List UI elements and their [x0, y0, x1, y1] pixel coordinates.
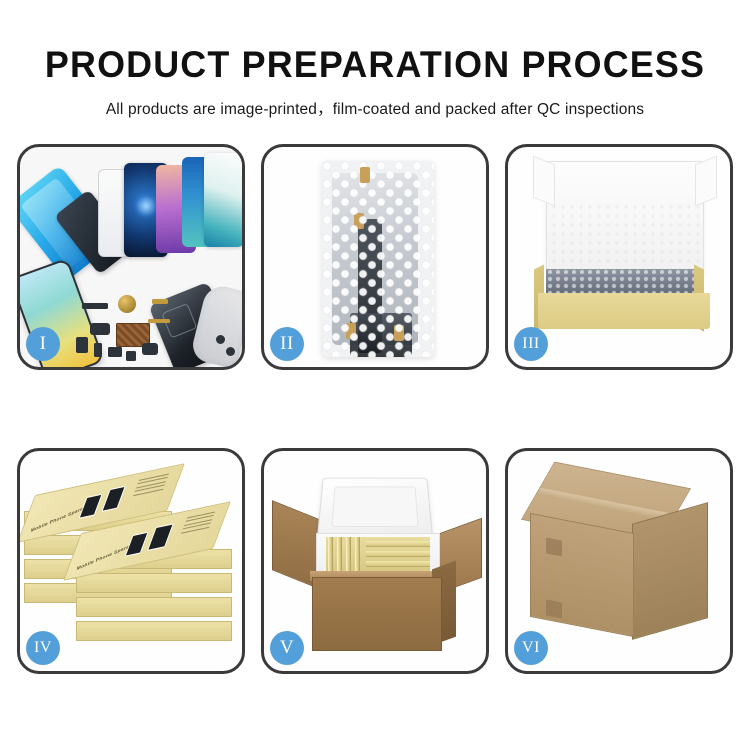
stacked-box-edge-8: [76, 621, 232, 641]
box-spec-lines-back: [132, 474, 169, 499]
box-artwork-1: [79, 494, 103, 519]
box-artwork-3: [125, 532, 149, 557]
step-badge-1: I: [26, 327, 60, 361]
tape-patch-top: [546, 537, 562, 556]
camera-module-chip: [90, 323, 110, 335]
gold-connector-chip: [152, 299, 168, 304]
step-badge-2: II: [270, 327, 304, 361]
phone-screen-white: [204, 153, 242, 247]
carton-front-panel: [312, 577, 442, 651]
tape-tab-top: [360, 167, 370, 183]
process-step-grid: I Assorted mobile phone LCD screens, bac…: [17, 144, 733, 674]
step-panel-4[interactable]: Mobile Phone Spare Parts Mobile Phone Sp…: [17, 448, 245, 674]
retail-box-stack: Mobile Phone Spare Parts Mobile Phone Sp…: [24, 471, 242, 661]
battery-connector-chip: [142, 343, 158, 355]
bubble-texture: [322, 161, 434, 357]
carton-front-face: [530, 513, 634, 637]
flex-cable-chip-2: [148, 319, 170, 323]
screw-chip-2: [216, 335, 225, 344]
stacked-box-edge-6: [76, 573, 232, 593]
step-panel-3[interactable]: III Parts laid in a yellow tray box with…: [505, 144, 733, 370]
box-artwork-2: [101, 486, 125, 512]
eps-foam-lid: [317, 478, 433, 538]
stacked-box-edge-7: [76, 597, 232, 617]
screw-chip: [226, 347, 235, 356]
poster-root: PRODUCT PREPARATION PROCESS All products…: [0, 0, 750, 750]
box-spec-lines-front: [180, 512, 215, 536]
step-panel-1[interactable]: I Assorted mobile phone LCD screens, bac…: [17, 144, 245, 370]
bubble-wrap-bag: [322, 161, 434, 357]
carton-right-face: [632, 502, 708, 640]
sim-tray-chip: [108, 347, 122, 357]
step-badge-6: VI: [514, 631, 548, 665]
foam-sheet-front: [550, 203, 700, 277]
button-chip: [126, 351, 136, 361]
yellow-tray-box: [538, 293, 710, 329]
tape-patch-bottom: [546, 599, 562, 618]
screw-set-chip: [76, 337, 88, 353]
step-badge-4: IV: [26, 631, 60, 665]
step-panel-2[interactable]: II Single phone screen part sealed insid…: [261, 144, 489, 370]
vibrator-chip: [94, 343, 102, 357]
poster-header: PRODUCT PREPARATION PROCESS All products…: [0, 0, 750, 119]
step-panel-5[interactable]: V Yellow boxes loaded into a white EPS f…: [261, 448, 489, 674]
step-badge-5: V: [270, 631, 304, 665]
box-artwork-4: [147, 523, 174, 551]
page-subtitle: All products are image-printed，film-coat…: [0, 97, 750, 119]
speaker-coil-chip: [118, 295, 136, 313]
page-title: PRODUCT PREPARATION PROCESS: [11, 46, 739, 83]
step-badge-3: III: [514, 327, 548, 361]
flex-cable-chip-1: [82, 303, 108, 309]
step-panel-6[interactable]: VI Sealed and taped kraft cardboard ship…: [505, 448, 733, 674]
